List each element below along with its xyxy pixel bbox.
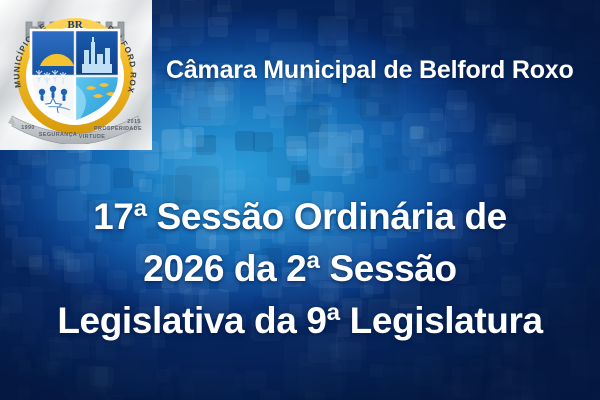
- headline-line-2: 2026 da 2ª Sessão: [6, 243, 594, 295]
- session-headline: 17ª Sessão Ordinária de 2026 da 2ª Sessã…: [0, 191, 600, 347]
- ribbon-left-year: 1990: [21, 125, 35, 131]
- ribbon-motto-center: VIRTUDE: [79, 134, 105, 140]
- logo-panel: MUNICÍPIO DE BELFORD ROXO: [0, 0, 152, 150]
- header-title: Câmara Municipal de Belford Roxo: [166, 57, 586, 85]
- headline-line-3: Legislativa da 9ª Legislatura: [6, 295, 594, 347]
- headline-line-1: 17ª Sessão Ordinária de: [6, 191, 594, 243]
- coat-of-arms-icon: MUNICÍPIO DE BELFORD ROXO: [6, 6, 144, 144]
- ribbon-motto-left: SEGURANÇA: [39, 132, 77, 138]
- banner-canvas: MUNICÍPIO DE BELFORD ROXO: [0, 0, 600, 400]
- ribbon-right-year: 2015: [127, 119, 141, 125]
- br-monogram: BR: [67, 19, 83, 31]
- ribbon-motto-right: PROSPERIDADE: [94, 126, 142, 132]
